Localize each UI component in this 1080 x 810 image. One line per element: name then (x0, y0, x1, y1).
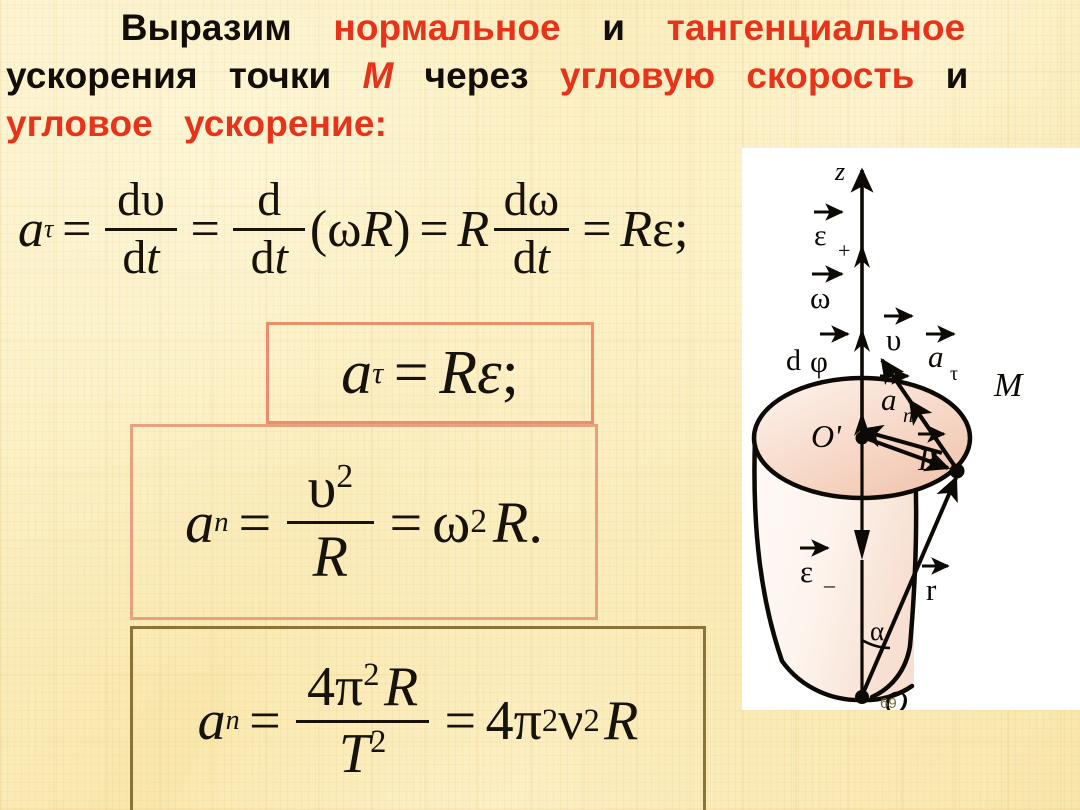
box-an-eq2: = (390, 489, 423, 556)
point-O-marker (855, 690, 869, 704)
box-an-eq1: = (239, 489, 272, 556)
frac2-denominator: dt (241, 233, 297, 283)
frac3-num-d: d (504, 173, 528, 226)
frac3-den-d: d (513, 231, 537, 284)
box-anT-rhs-nu-exponent: 2 (583, 703, 599, 740)
boxed-formula-normal-acceleration: an = υ2 R = ω2R. (130, 424, 598, 620)
frac1-num-v: υ (141, 173, 165, 226)
box-anT-rhs-R: R (604, 689, 638, 753)
formula-main-eq3: = (419, 200, 448, 259)
box-an-period: . (528, 489, 543, 556)
box-anT-denominator: T2 (328, 725, 398, 783)
label-omega: ω (810, 274, 842, 315)
label-epsilon-plus: ε + (814, 212, 850, 263)
box-at-lhs-sub: τ (372, 355, 383, 391)
label-angle-alpha: α (870, 616, 884, 646)
headline-word-cherez: через (425, 55, 529, 96)
headline-word-i-1: и (602, 7, 625, 48)
frac3-num-omega: ω (528, 173, 559, 226)
rotation-diagram: z ε + ω d φ υ (742, 148, 1080, 710)
page-title: Выразим нормальное и тангенциальное уско… (0, 4, 1080, 148)
label-velocity: υ (884, 316, 912, 357)
frac1-den-t: t (146, 231, 159, 284)
frac2-den-t: t (275, 231, 288, 284)
label-dphi-d: d (786, 344, 801, 377)
label-z-axis: z (834, 157, 845, 186)
frac1-den-d: d (122, 231, 146, 284)
headline-word-point-M: M (362, 55, 393, 96)
box-anT-fraction: 4π2R T2 (296, 659, 430, 782)
box-anT-num-R: R (384, 656, 418, 718)
formula-main-frac-dv-dt: dυ dt (105, 176, 177, 283)
box-an-den-R: R (313, 524, 348, 589)
formula-main-semicolon: ; (674, 200, 688, 259)
box-anT-rhs-4: 4 (486, 689, 514, 753)
box-anT-lhs: a (198, 689, 226, 753)
headline-word-i-2: и (946, 55, 969, 96)
box-at-content: aτ = Rε; (341, 338, 519, 409)
label-epsilon-minus-sign: – (823, 572, 836, 597)
label-radius-R-glyph: R (917, 441, 938, 477)
formula-tangential-derivation: aτ = dυ dt = d dt (ωR) = R dω dt = Rε; (18, 176, 688, 283)
box-anT-num-pi-exponent: 2 (363, 659, 379, 692)
box-anT-rhs-nu: ν (558, 689, 583, 753)
label-epsilon-plus-glyph: ε (814, 219, 827, 252)
headline-word-uglovoe: угловое (6, 103, 153, 144)
frac2-num-d: d (257, 173, 281, 226)
headline-line-1: Выразим нормальное и тангенциальное (0, 4, 1080, 52)
headline-word-normalnoe: нормальное (333, 7, 560, 48)
boxed-formula-normal-acceleration-period: an = 4π2R T2 = 4π2ν2R (130, 626, 706, 810)
frac2-numerator: d (248, 176, 291, 226)
box-anT-den-T: T (339, 723, 370, 785)
formula-main-R-inner: R (361, 200, 393, 259)
box-anT-num-4: 4 (307, 656, 335, 718)
box-at-lhs: a (341, 338, 372, 409)
frac3-numerator: dω (494, 176, 569, 226)
formula-main-R3: R (620, 200, 652, 259)
formula-main-paren-open: ( (310, 200, 327, 259)
box-anT-eq2: = (445, 689, 477, 753)
point-M-marker (950, 464, 965, 479)
label-vector-r: r (922, 566, 948, 607)
label-a-tau-sub: τ (950, 363, 958, 385)
label-epsilon-plus-sign: + (838, 238, 850, 263)
box-anT-den-T-exponent: 2 (370, 726, 386, 759)
page-number: 69 (880, 695, 897, 710)
frac3-denominator: dt (503, 233, 559, 283)
label-center-O-prime: O' (811, 418, 842, 454)
formula-main-eq1: = (62, 200, 91, 259)
box-an-lhs-sub: n (214, 506, 229, 539)
formula-main-paren-close: ) (393, 200, 410, 259)
formula-main-frac-dw-dt: dω dt (494, 176, 569, 283)
headline-word-vyrazim: Выразим (121, 7, 292, 48)
box-an-denominator: R (301, 526, 360, 586)
box-anT-rhs-pi-exponent: 2 (542, 703, 558, 740)
boxed-formula-tangential-acceleration: aτ = Rε; (266, 322, 594, 424)
formula-main-epsilon: ε (652, 200, 674, 259)
rotation-diagram-panel: z ε + ω d φ υ (742, 148, 1080, 710)
label-a-n-glyph: a (881, 382, 897, 417)
box-anT-content: an = 4π2R T2 = 4π2ν2R (198, 659, 639, 782)
headline-line-2: ускорения точки M через угловую скорость… (0, 52, 1080, 100)
formula-main-lhs-sub: τ (44, 214, 53, 244)
box-anT-eq1: = (249, 689, 281, 753)
box-an-omega: ω (432, 489, 470, 556)
frac1-denominator: dt (113, 233, 169, 283)
box-an-fraction: υ2 R (287, 458, 374, 585)
frac1-numerator: dυ (108, 176, 175, 226)
box-anT-numerator: 4π2R (296, 659, 430, 717)
headline-word-uskorenie: ускорение: (184, 103, 387, 144)
formula-main-omega: ω (327, 200, 361, 259)
frac3-den-t: t (537, 231, 550, 284)
box-an-R: R (493, 489, 528, 556)
label-velocity-glyph: υ (886, 322, 901, 357)
formula-main-frac-d-dt: d dt (233, 176, 305, 283)
box-an-num-exponent: 2 (336, 460, 353, 494)
label-dphi: d φ (786, 334, 848, 379)
label-point-M: M (993, 367, 1024, 404)
box-at-semicolon: ; (502, 338, 519, 409)
formula-main-lhs: a (18, 200, 44, 259)
frac1-num-d: d (117, 173, 141, 226)
label-dphi-phi: φ (810, 344, 828, 379)
label-a-tau-glyph: a (928, 339, 944, 374)
box-anT-lhs-sub: n (226, 705, 240, 737)
formula-main-eq2: = (190, 200, 219, 259)
box-anT-rhs-pi: π (514, 689, 542, 753)
headline-word-uskoreniya: ускорения (6, 55, 198, 96)
frac2-den-d: d (251, 231, 275, 284)
headline-word-uglovuyu: угловую (560, 55, 715, 96)
box-at-R: R (439, 338, 477, 409)
box-an-numerator: υ2 (296, 458, 365, 518)
slide-canvas: Выразим нормальное и тангенциальное уско… (0, 0, 1080, 810)
box-an-content: an = υ2 R = ω2R. (185, 458, 543, 585)
label-vector-r-glyph: r (926, 572, 937, 607)
headline-line-3: угловое ускорение: (0, 100, 1080, 148)
box-at-epsilon: ε (477, 338, 501, 409)
label-a-tau: a τ (926, 334, 958, 385)
box-anT-num-pi: π (335, 656, 363, 718)
headline-word-skorost: скорость (746, 55, 914, 96)
label-epsilon-minus-glyph: ε (800, 554, 813, 589)
label-omega-glyph: ω (810, 280, 830, 315)
formula-main-R2: R (458, 200, 490, 259)
box-at-eq: = (394, 338, 429, 409)
headline-word-tangencialnoe: тангенциальное (667, 7, 966, 48)
box-an-lhs: a (185, 489, 214, 556)
box-an-num-v: υ (308, 455, 337, 520)
headline-word-tochki: точки (229, 55, 332, 96)
label-a-n-sub: n (903, 403, 914, 427)
box-an-omega-exponent: 2 (470, 503, 487, 541)
formula-main-eq4: = (582, 200, 611, 259)
